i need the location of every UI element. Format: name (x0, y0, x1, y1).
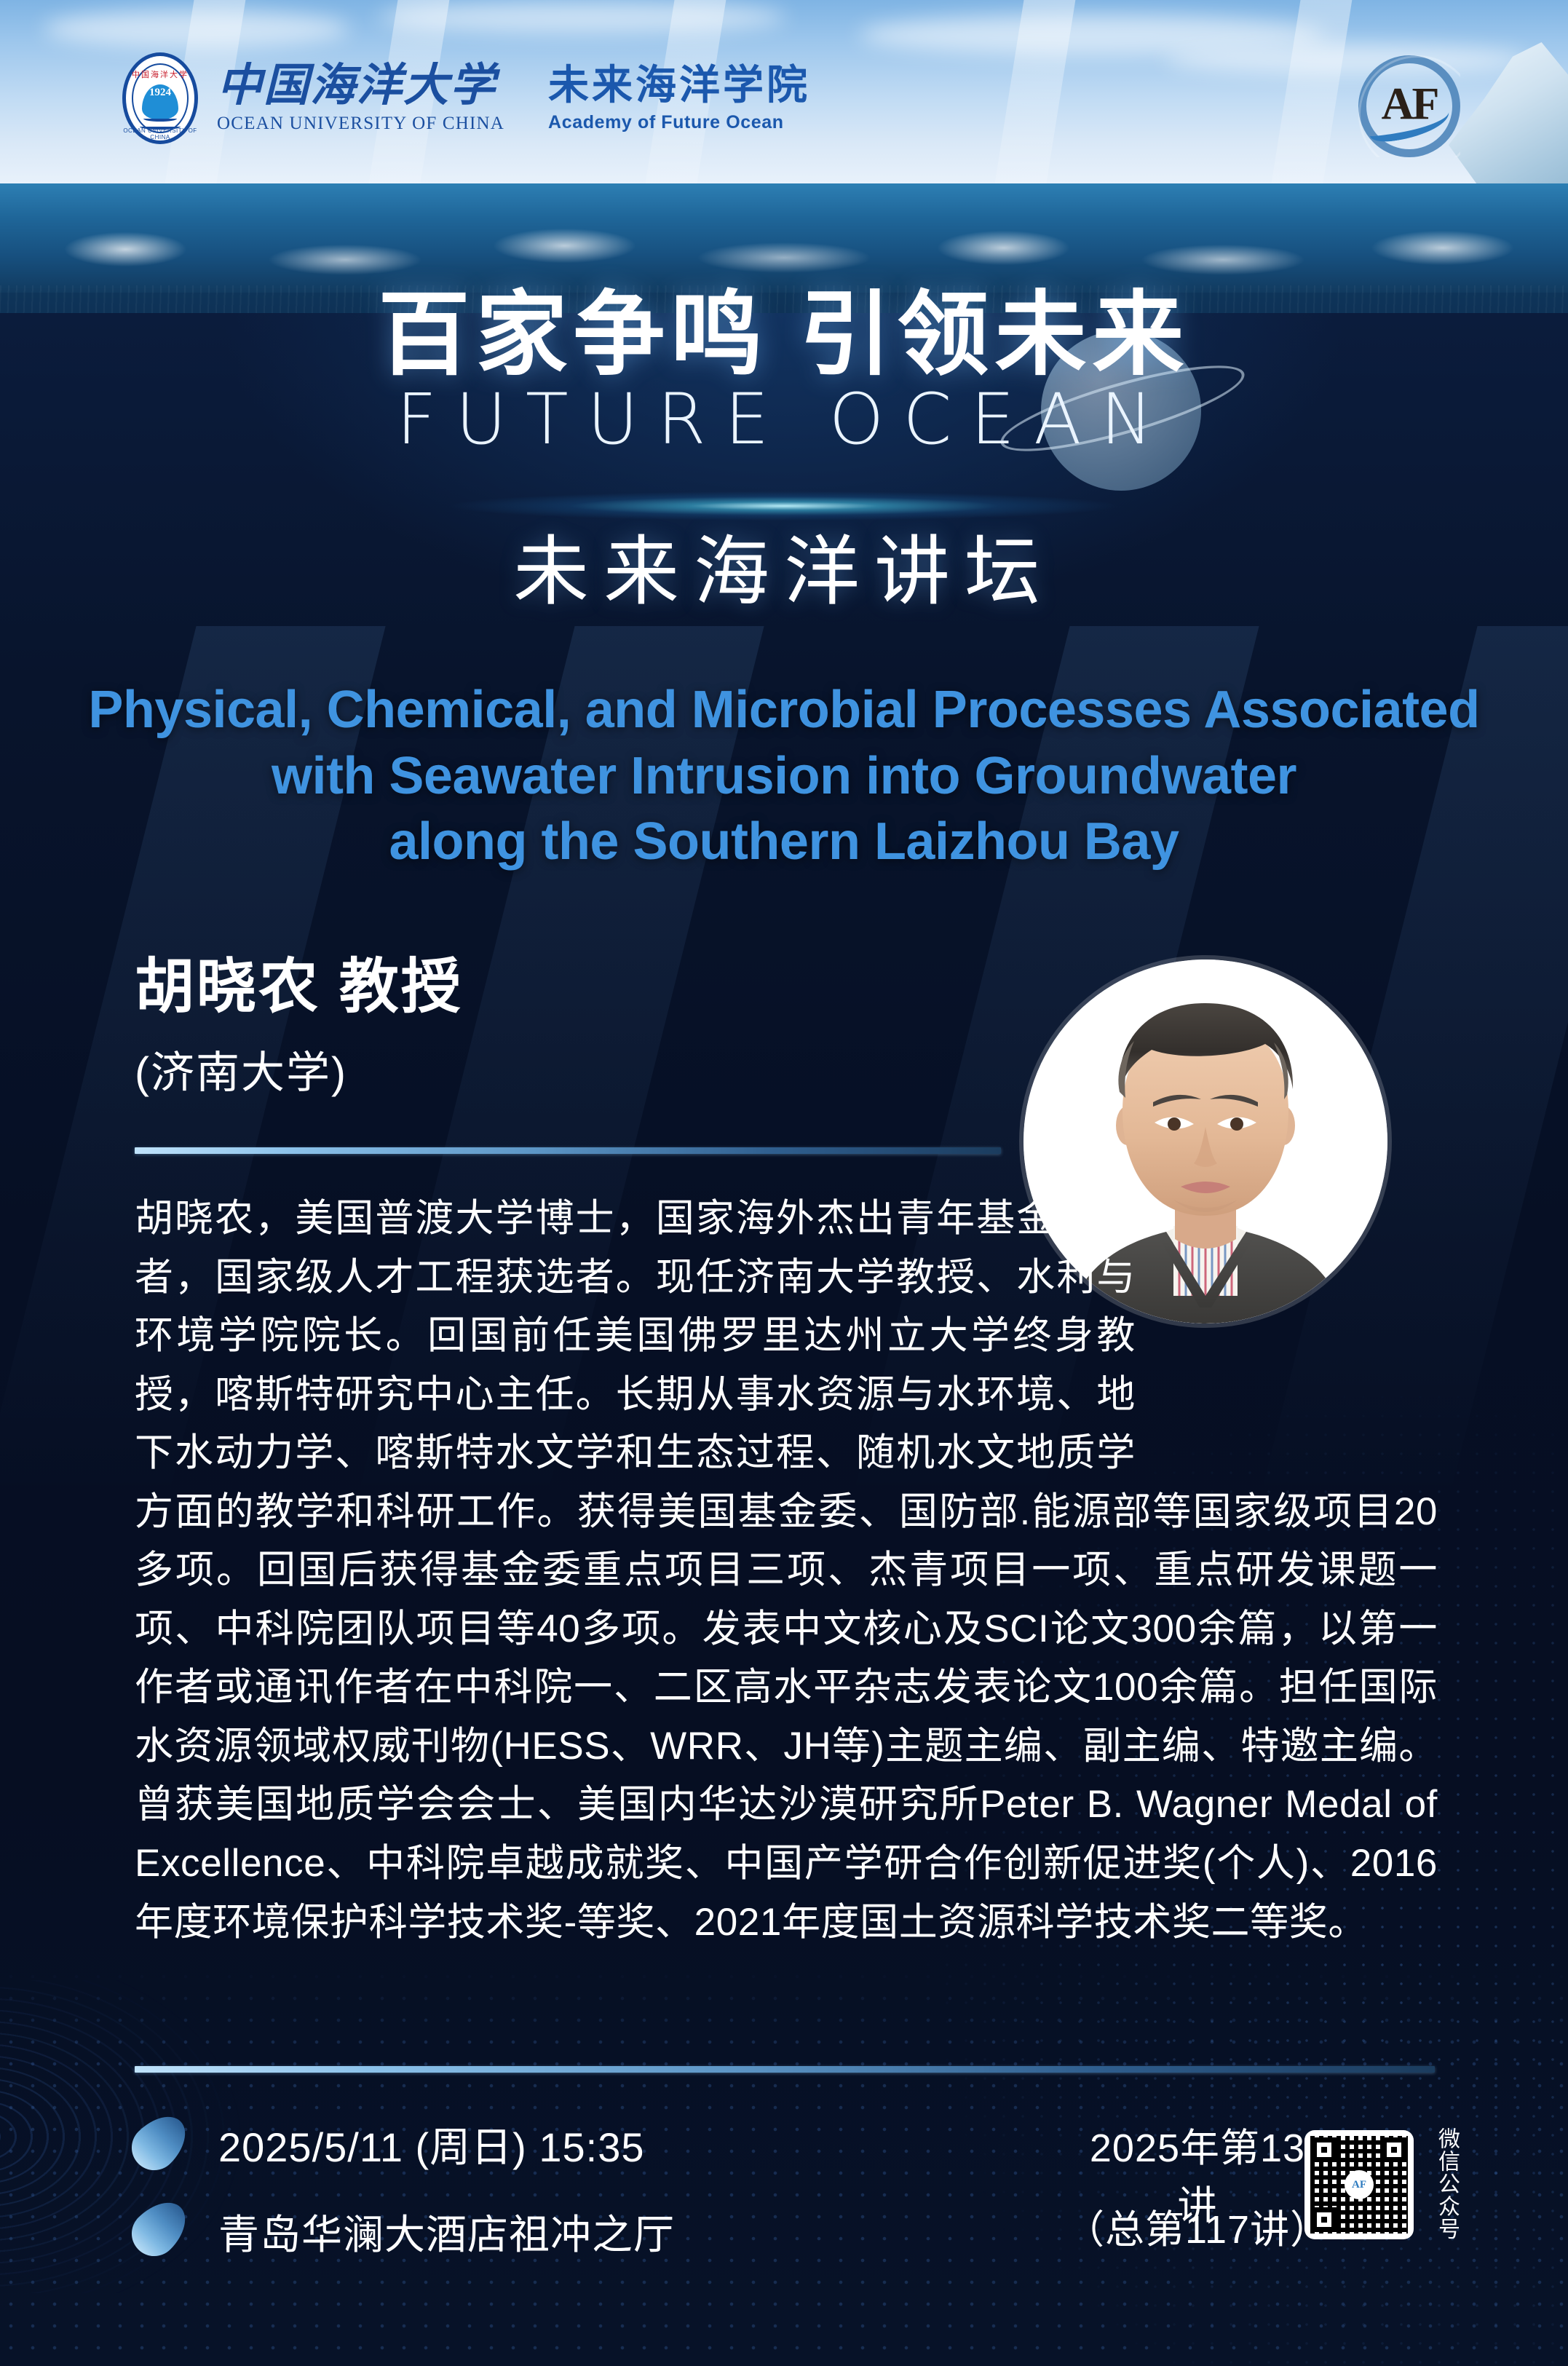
talk-title-line-2: with Seawater Intrusion into Groundwater (29, 743, 1539, 810)
speaker-affiliation: (济南大学) (135, 1037, 347, 1101)
university-name-en: OCEAN UNIVERSITY OF CHINA (217, 114, 504, 134)
speaker-bio: 胡晓农，美国普渡大学博士，国家海外杰出青年基金获得者，国家级人才工程获选者。现任… (135, 1190, 1438, 1952)
university-name-cn: 中国海洋大学 (217, 63, 496, 111)
talk-title-line-3: along the Southern Laizhou Bay (29, 809, 1539, 875)
hero-forum-cn: 未来海洋讲坛 (0, 510, 1568, 620)
talk-title-line-1: Physical, Chemical, and Microbial Proces… (29, 677, 1539, 743)
hero-brand-en: FUTURE OCEAN (0, 379, 1568, 460)
event-datetime: 2025/5/11 (周日) 15:35 (218, 2115, 645, 2174)
wechat-label: 微信公众号 (1425, 2127, 1459, 2240)
divider-above-bio (135, 1147, 1001, 1154)
academy-name-cn: 未来海洋学院 (548, 63, 810, 107)
poster-root: 中国海洋大学 1924 OCEAN UNIVERSITY OF CHINA 中国… (0, 0, 1568, 2366)
lecture-total-number: （总第117讲） (1063, 2197, 1332, 2255)
qr-finder-icon (1382, 2137, 1406, 2162)
af-brush-circle-icon: AF (1358, 55, 1460, 157)
qr-center-logo: AF (1347, 2172, 1371, 2197)
divider-above-footer (135, 2066, 1435, 2073)
ouc-wordmark: 中国海洋大学 OCEAN UNIVERSITY OF CHINA (217, 63, 504, 134)
bio-portrait-spacer (1136, 1190, 1438, 1465)
wechat-qr-code[interactable]: AF (1304, 2130, 1414, 2239)
ouc-seal-icon: 中国海洋大学 1924 OCEAN UNIVERSITY OF CHINA (122, 52, 198, 144)
cloud-decoration (1165, 45, 1529, 74)
speaker-name: 胡晓农 教授 (135, 938, 463, 1024)
event-venue: 青岛华澜大酒店祖冲之厅 (218, 2202, 675, 2261)
header-logo-row: 中国海洋大学 1924 OCEAN UNIVERSITY OF CHINA 中国… (122, 52, 810, 144)
academy-wordmark: 未来海洋学院 Academy of Future Ocean (548, 63, 810, 133)
talk-title: Physical, Chemical, and Microbial Proces… (29, 677, 1539, 875)
seal-top-chars: 中国海洋大学 (122, 68, 198, 80)
academy-name-en: Academy of Future Ocean (548, 112, 784, 133)
hero-headline-cn: 百家争鸣 引领未来 (0, 261, 1568, 393)
qr-finder-icon (1312, 2207, 1337, 2232)
seal-year: 1924 (122, 87, 198, 99)
seal-arc-text: OCEAN UNIVERSITY OF CHINA (122, 127, 198, 141)
qr-finder-icon (1312, 2137, 1337, 2162)
